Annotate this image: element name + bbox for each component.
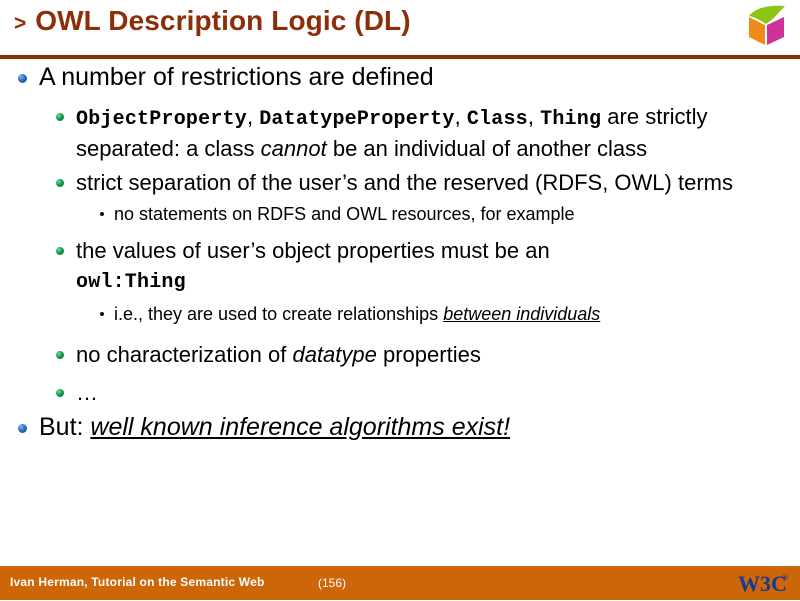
text-fragment: i.e., they are used to create relationsh… [114, 304, 443, 324]
text-fragment: no characterization of [76, 342, 292, 367]
bullet-item-level2-no-characterization: no characterization of datatype properti… [56, 340, 800, 369]
slide-header: > OWL Description Logic (DL) [0, 0, 800, 60]
code-thing: Thing [540, 108, 601, 131]
slide-body: A number of restrictions are defined Obj… [0, 62, 800, 554]
spacer [0, 227, 800, 236]
footer-page-number: (156) [0, 576, 732, 590]
page-title: > OWL Description Logic (DL) [14, 7, 411, 35]
emphasis-datatype: datatype [292, 342, 376, 367]
code-owl-thing: owl:Thing [76, 271, 186, 294]
emphasis-between-individuals: between individuals [443, 304, 600, 324]
bullet-item-level1: A number of restrictions are defined [18, 62, 800, 93]
semantic-web-cube-logo [744, 4, 790, 48]
spacer [0, 93, 800, 102]
title-marker-icon: > [14, 13, 26, 34]
bullet-text: ObjectProperty, DatatypeProperty, Class,… [76, 102, 800, 163]
separator: , [528, 104, 540, 129]
separator: , [455, 104, 467, 129]
bullet-dot-green-icon [56, 351, 64, 359]
bullet-item-level2-separated: ObjectProperty, DatatypeProperty, Class,… [56, 102, 800, 163]
emphasis-cannot: cannot [261, 136, 327, 161]
code-datatype-property: DatatypeProperty [259, 108, 454, 131]
text-fragment: be an individual of another class [327, 136, 647, 161]
bullet-text: strict separation of the user’s and the … [76, 168, 800, 197]
text-fragment: But: [39, 413, 90, 441]
slide-footer: Ivan Herman, Tutorial on the Semantic We… [0, 566, 800, 600]
bullet-text: A number of restrictions are defined [39, 62, 800, 93]
bullet-dot-green-icon [56, 247, 64, 255]
bullet-dot-blue-icon [18, 424, 27, 433]
w3c-logo: W3C ® [738, 570, 792, 596]
bullet-item-level2-strict-separation: strict separation of the user’s and the … [56, 168, 800, 197]
separator: , [247, 104, 259, 129]
bullet-dot-green-icon [56, 389, 64, 397]
spacer [0, 369, 800, 378]
text-fragment: properties [377, 342, 481, 367]
emphasis-inference-algorithms: well known inference algorithms exist! [90, 413, 510, 441]
bullet-text: But: well known inference algorithms exi… [39, 412, 800, 443]
header-divider [0, 55, 800, 59]
text-fragment: the values of user’s object properties m… [76, 238, 550, 263]
code-class: Class [467, 108, 528, 131]
bullet-item-level2-ellipsis: … [56, 378, 800, 407]
title-text: OWL Description Logic (DL) [35, 7, 410, 35]
slide: > OWL Description Logic (DL) A number of… [0, 0, 800, 600]
bullet-text: the values of user’s object properties m… [76, 236, 800, 297]
code-object-property: ObjectProperty [76, 108, 247, 131]
bullet-item-level1-but: But: well known inference algorithms exi… [18, 412, 800, 443]
bullet-item-level3-no-statements: no statements on RDFS and OWL resources,… [100, 202, 800, 227]
bullet-dot-black-icon [100, 212, 104, 216]
bullet-dot-blue-icon [18, 74, 27, 83]
bullet-item-level2-values: the values of user’s object properties m… [56, 236, 800, 297]
bullet-text: … [76, 378, 800, 407]
bullet-dot-green-icon [56, 179, 64, 187]
bullet-text: no statements on RDFS and OWL resources,… [114, 202, 800, 227]
bullet-text: i.e., they are used to create relationsh… [114, 302, 800, 327]
svg-text:®: ® [782, 573, 788, 582]
bullet-item-level3-relationships: i.e., they are used to create relationsh… [100, 302, 800, 327]
svg-text:W3C: W3C [738, 571, 787, 596]
spacer [0, 327, 800, 340]
bullet-dot-green-icon [56, 113, 64, 121]
bullet-text: no characterization of datatype properti… [76, 340, 800, 369]
bullet-dot-black-icon [100, 312, 104, 316]
